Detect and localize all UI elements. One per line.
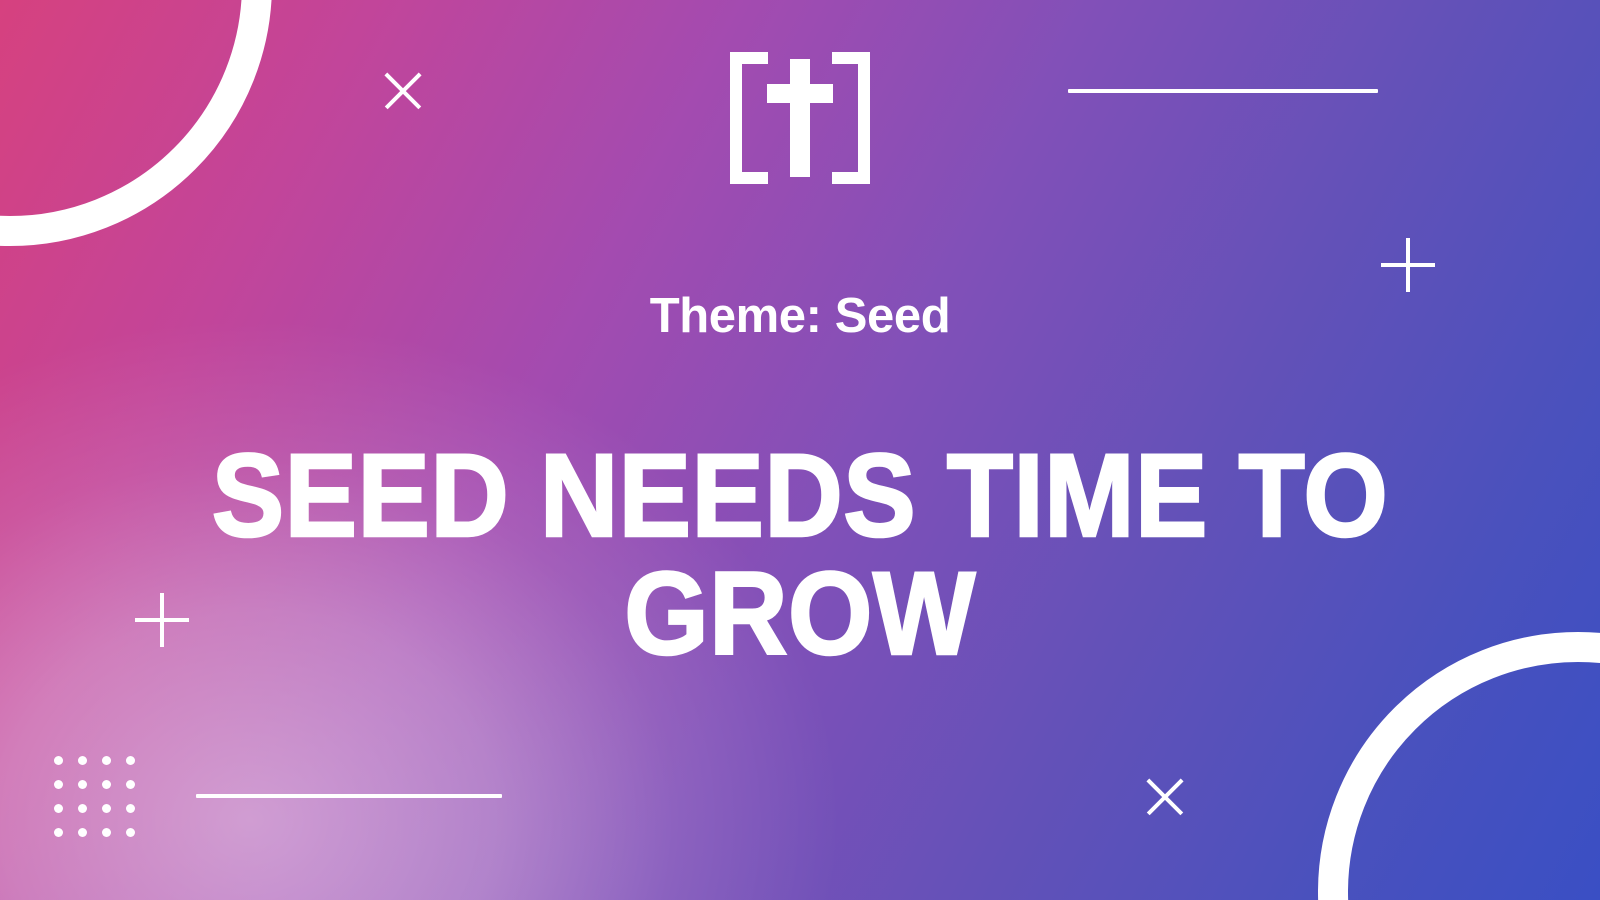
dot: [126, 804, 135, 813]
dot: [126, 828, 135, 837]
x-mark-bottom-right-icon: [1146, 778, 1184, 816]
slide-subtitle: Theme: Seed: [0, 292, 1600, 341]
arc-ring-top-left-icon: [0, 0, 272, 246]
dot: [102, 756, 111, 765]
x-mark-top-left-icon: [384, 72, 422, 110]
dot: [126, 756, 135, 765]
dot: [78, 828, 87, 837]
rule-top-right: [1068, 89, 1378, 93]
slide-canvas: Theme: Seed SEED NEEDS TIME TO GROW: [0, 0, 1600, 900]
dot: [54, 828, 63, 837]
dot: [102, 828, 111, 837]
plus-mark-right-icon: [1381, 238, 1435, 292]
slide-headline: SEED NEEDS TIME TO GROW: [64, 437, 1536, 673]
dot: [78, 756, 87, 765]
dot: [102, 804, 111, 813]
dot: [54, 780, 63, 789]
dot: [54, 756, 63, 765]
dot: [126, 780, 135, 789]
rule-bottom-left: [196, 794, 502, 798]
cross-in-brackets-logo-icon: [724, 52, 876, 184]
dot-grid-bottom-left-icon: [54, 756, 135, 837]
dot: [78, 780, 87, 789]
dot: [78, 804, 87, 813]
dot: [54, 804, 63, 813]
dot: [102, 780, 111, 789]
